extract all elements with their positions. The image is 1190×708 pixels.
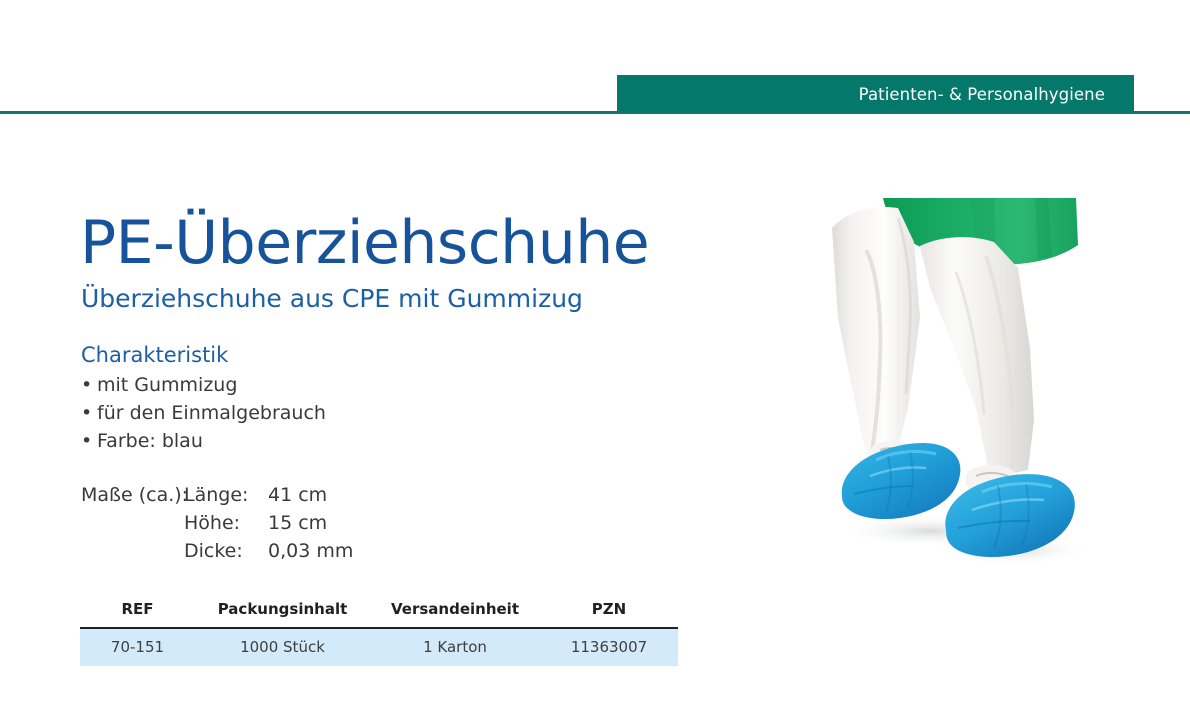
list-item: • Farbe: blau [81,427,700,455]
measurements-label: Maße (ca.): [81,481,184,509]
header-divider-rule [0,111,1190,114]
column-header-ref: REF [80,600,195,628]
list-item: • mit Gummizug [81,371,700,399]
measurement-value-dicke: 0,03 mm [256,537,700,565]
product-title: PE-Überziehschuhe [80,210,700,276]
product-photo [780,198,1110,583]
column-header-pzn: PZN [540,600,678,628]
cell-pzn: 11363007 [540,628,678,666]
characteristics-heading: Charakteristik [81,343,700,367]
page-header: Patienten- & Personalhygiene [0,0,1190,115]
product-subtitle: Überziehschuhe aus CPE mit Gummizug [81,284,700,314]
list-item-label: Farbe: blau [97,430,203,452]
cell-packungsinhalt: 1000 Stück [195,628,370,666]
cell-versandeinheit: 1 Karton [370,628,540,666]
measurement-value-laenge: 41 cm [256,481,700,509]
column-header-versandeinheit: Versandeinheit [370,600,540,628]
measurement-value-hoehe: 15 cm [256,509,700,537]
cell-ref: 70-151 [80,628,195,666]
list-item: • für den Einmalgebrauch [81,399,700,427]
column-header-packungsinhalt: Packungsinhalt [195,600,370,628]
list-item-label: mit Gummizug [97,374,237,396]
table-row: 70-151 1000 Stück 1 Karton 11363007 [80,628,678,666]
measurement-key-hoehe: Höhe: [184,509,256,537]
measurements-block: Maße (ca.): Länge: 41 cm Höhe: 15 cm Dic… [81,481,700,565]
specification-table: REF Packungsinhalt Versandeinheit PZN 70… [80,600,678,666]
characteristics-list: • mit Gummizug • für den Einmalgebrauch … [81,371,700,455]
bullet-icon: • [81,371,92,399]
category-banner-label: Patienten- & Personalhygiene [859,85,1105,104]
table-header-row: REF Packungsinhalt Versandeinheit PZN [80,600,678,628]
measurement-key-laenge: Länge: [184,481,256,509]
category-banner: Patienten- & Personalhygiene [617,75,1134,113]
bullet-icon: • [81,399,92,427]
product-info-column: PE-Überziehschuhe Überziehschuhe aus CPE… [80,210,700,565]
bullet-icon: • [81,427,92,455]
measurement-key-dicke: Dicke: [184,537,256,565]
list-item-label: für den Einmalgebrauch [97,402,326,424]
